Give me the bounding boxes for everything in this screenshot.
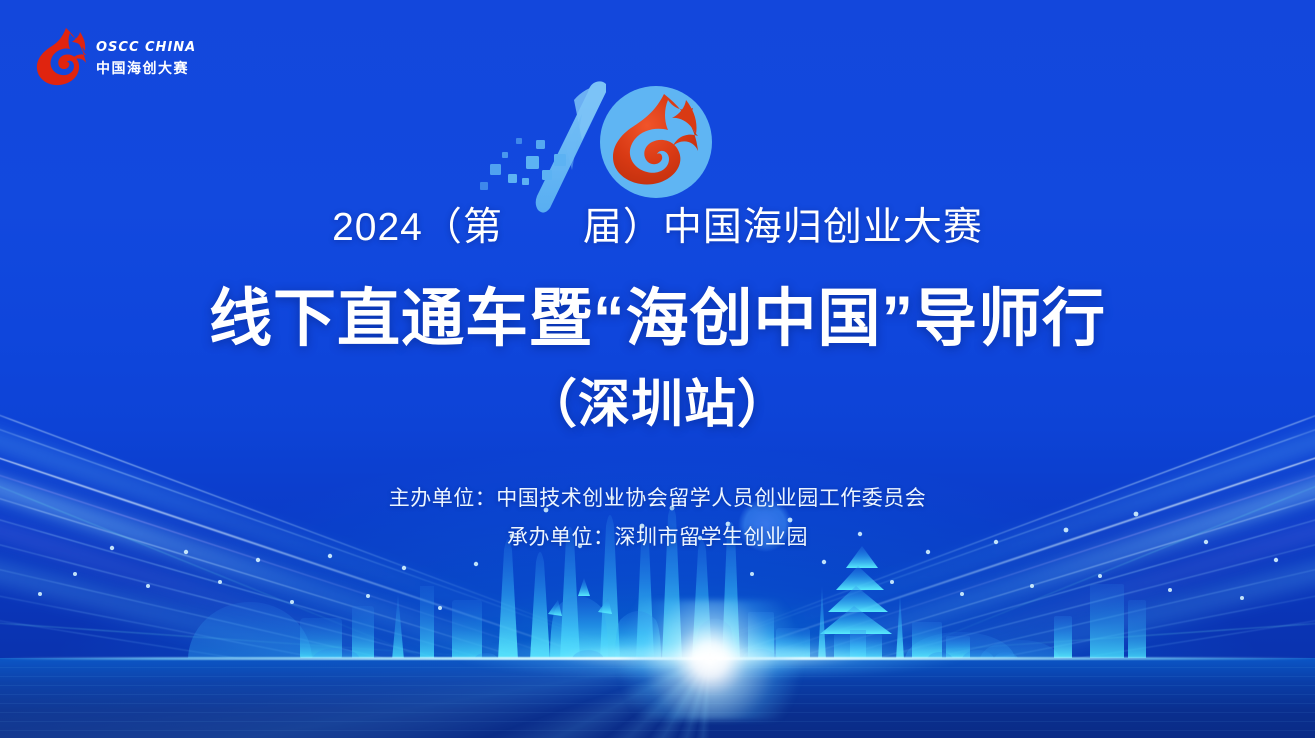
brush-stroke-one-icon [536, 81, 606, 212]
event-year-line: 2024（第 届）中国海归创业大赛 [0, 196, 1315, 252]
logo-text-cn: 中国海创大赛 [96, 58, 189, 78]
poster-canvas: OSCC CHINA 中国海创大赛 [0, 0, 1315, 738]
flame-circle-zero-icon [600, 86, 712, 198]
host-organizer: 主办单位：中国技术创业协会留学人员创业园工作委员会 [0, 482, 1315, 512]
co-organizer: 承办单位：深圳市留学生创业园 [0, 521, 1315, 551]
page-title: 线下直通车暨“海创中国”导师行 [0, 268, 1315, 359]
logo-text-en: OSCC CHINA [96, 40, 196, 55]
flame-swirl-icon [28, 26, 98, 88]
center-burst-glow [610, 600, 810, 720]
page-subtitle: （深圳站） [0, 362, 1315, 437]
oscc-china-logo[interactable]: OSCC CHINA 中国海创大赛 [28, 26, 178, 88]
